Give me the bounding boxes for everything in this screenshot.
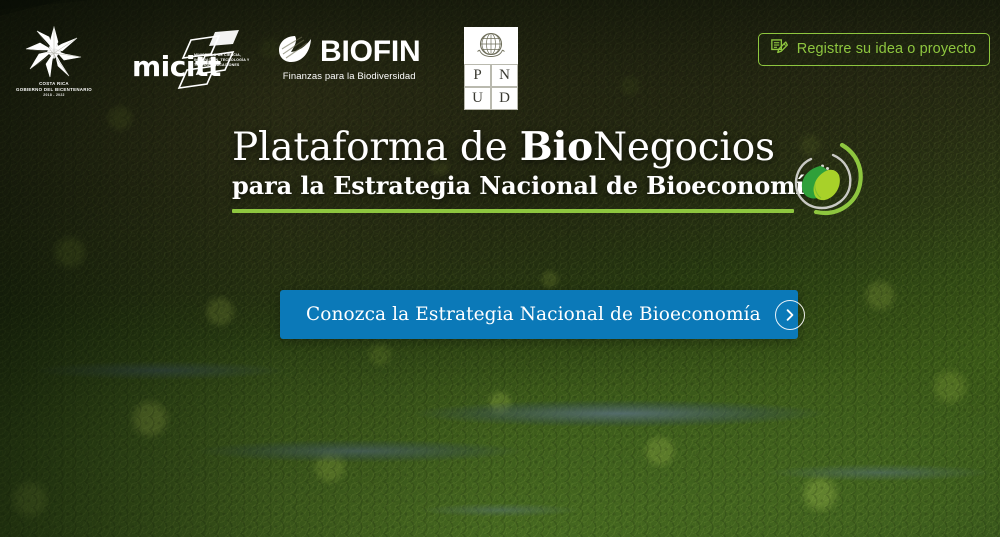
costa-rica-line2: GOBIERNO DEL BICENTENARIO <box>16 87 92 93</box>
register-button-label: Registre su idea o proyecto <box>797 41 976 57</box>
strategy-cta-label: Conozca la Estrategia Nacional de Bioeco… <box>306 304 761 325</box>
strategy-cta-button[interactable]: Conozca la Estrategia Nacional de Bioeco… <box>280 290 798 339</box>
logo-biofin[interactable]: BIOFIN Finanzas para la Biodiversidad <box>278 34 420 84</box>
pnud-letter-d: D <box>491 87 518 110</box>
logo-pnud[interactable]: P N U D <box>464 27 518 110</box>
pnud-letter-n: N <box>491 64 518 87</box>
biofin-subtitle: Finanzas para la Biodiversidad <box>278 71 420 82</box>
logo-micitt[interactable]: micitt MINISTERIO DE CIENCIA, INNOVACIÓN… <box>132 32 262 88</box>
biofin-wordmark: BIOFIN <box>320 35 420 69</box>
register-idea-button[interactable]: Registre su idea o proyecto <box>758 33 990 66</box>
hero-banner: COSTA RICA GOBIERNO DEL BICENTENARIO 201… <box>0 0 1000 537</box>
costa-rica-star-icon <box>25 26 83 78</box>
pnud-letter-grid: P N U D <box>464 64 518 110</box>
site-header: COSTA RICA GOBIERNO DEL BICENTENARIO 201… <box>0 0 1000 108</box>
page-title-part2: Negocios <box>593 125 775 170</box>
pnud-letter-u: U <box>464 87 491 110</box>
costa-rica-line3: 2018 - 2022 <box>16 93 92 97</box>
page-title-part1: Plataforma de <box>232 125 520 170</box>
document-pencil-icon <box>769 38 788 61</box>
logo-costa-rica-government[interactable]: COSTA RICA GOBIERNO DEL BICENTENARIO 201… <box>8 26 100 102</box>
page-title-bio: Bio <box>520 124 593 170</box>
title-underline-rule <box>232 209 794 213</box>
micitt-subtitle: MINISTERIO DE CIENCIA, INNOVACIÓN, TECNO… <box>194 53 260 69</box>
costa-rica-caption: COSTA RICA GOBIERNO DEL BICENTENARIO 201… <box>16 81 92 97</box>
un-emblem-icon <box>464 27 518 64</box>
biofin-swoosh-icon <box>278 34 312 69</box>
bioeconomia-leaf-icon <box>776 139 864 227</box>
chevron-right-circle-icon <box>775 300 805 330</box>
pnud-letter-p: P <box>464 64 491 87</box>
